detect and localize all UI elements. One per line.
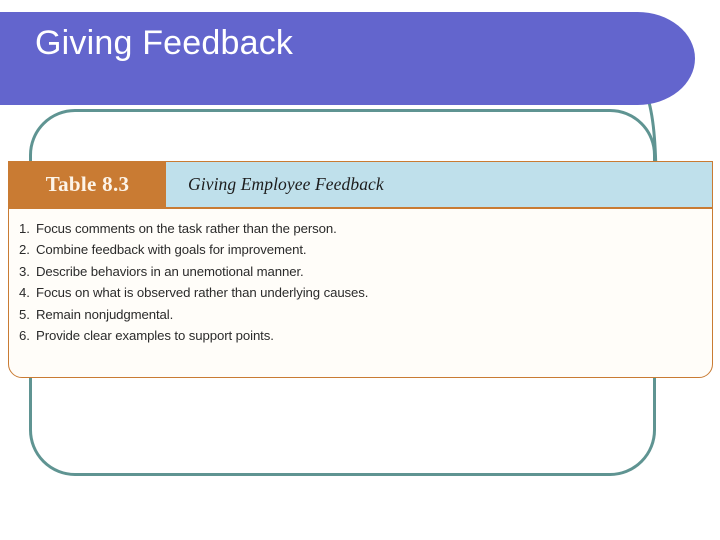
title-underline-rule [0,105,624,109]
list-item-number: 4. [19,282,36,304]
table-number-label: Table 8.3 [9,162,166,207]
list-item: 2. Combine feedback with goals for impro… [19,239,712,261]
table-header: Table 8.3 Giving Employee Feedback [9,162,712,207]
list-item-number: 5. [19,304,36,326]
list-item: 4. Focus on what is observed rather than… [19,282,712,304]
page-title: Giving Feedback [35,23,635,63]
list-item-text: Describe behaviors in an unemotional man… [36,261,712,283]
list-item-text: Focus comments on the task rather than t… [36,218,712,240]
table-figure: Table 8.3 Giving Employee Feedback 1. Fo… [8,161,713,378]
list-item-text: Remain nonjudgmental. [36,304,712,326]
list-item-number: 6. [19,325,36,347]
list-item: 6. Provide clear examples to support poi… [19,325,712,347]
table-caption: Giving Employee Feedback [166,162,712,207]
list-item-number: 2. [19,239,36,261]
list-item-text: Focus on what is observed rather than un… [36,282,712,304]
list-item-number: 3. [19,261,36,283]
list-item-number: 1. [19,218,36,240]
table-body: 1. Focus comments on the task rather tha… [9,209,712,357]
list-item-text: Combine feedback with goals for improvem… [36,239,712,261]
list-item: 5. Remain nonjudgmental. [19,304,712,326]
list-item-text: Provide clear examples to support points… [36,325,712,347]
list-item: 3. Describe behaviors in an unemotional … [19,261,712,283]
feedback-guidelines-list: 1. Focus comments on the task rather tha… [19,218,712,347]
slide-canvas: Giving Feedback Table 8.3 Giving Employe… [0,0,720,540]
list-item: 1. Focus comments on the task rather tha… [19,218,712,240]
